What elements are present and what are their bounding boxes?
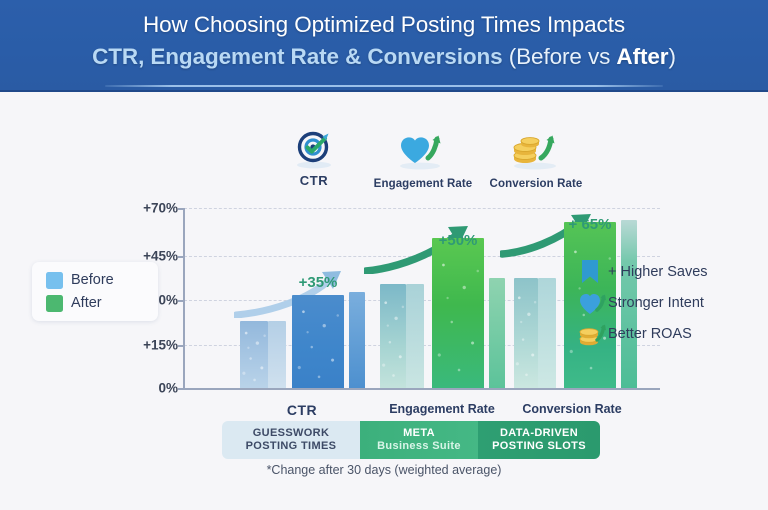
- coins-growth-icon: [474, 130, 598, 174]
- page-title-line2: CTR, Engagement Rate & Conversions (Befo…: [0, 41, 768, 72]
- bar-conversion-before: [514, 278, 538, 388]
- bar-engagement-after: [432, 238, 484, 388]
- bar-ctr-before: [240, 321, 268, 388]
- metric-icon-ctr: CTR: [258, 128, 370, 190]
- header-title-wrap: How Choosing Optimized Posting Times Imp…: [0, 9, 768, 72]
- coins-icon: [578, 320, 608, 348]
- xcat-label-conversion: Conversion Rate: [522, 402, 621, 416]
- pill-guesswork: GUESSWORK POSTING TIMES: [222, 421, 360, 459]
- heart-growth-icon: [368, 130, 478, 174]
- xcat-label-engagement: Engagement Rate: [389, 402, 495, 416]
- bar-engagement-trend: [489, 278, 505, 388]
- metric-icon-label-engagement: Engagement Rate: [374, 178, 473, 190]
- pill-meta-business-suite: META Business Suite: [360, 421, 478, 459]
- metric-icon-label-ctr: CTR: [300, 173, 329, 188]
- bar-ctr-before-highlight: [268, 321, 286, 388]
- bar-label-engagement: +50%: [439, 232, 478, 249]
- header-banner: How Choosing Optimized Posting Times Imp…: [0, 0, 768, 92]
- pill-data-driven: DATA-DRIVEN POSTING SLOTS: [478, 421, 600, 459]
- footnote-text: *Change after 30 days (weighted average): [0, 463, 768, 477]
- target-icon: [258, 128, 370, 172]
- bar-engagement-before-highlight: [406, 284, 424, 388]
- legend-swatch-before: [46, 272, 63, 289]
- page-title-metrics: CTR, Engagement Rate & Conversions: [92, 44, 502, 69]
- bar-ctr-after: [292, 295, 344, 388]
- pill-guesswork-line2: POSTING TIMES: [246, 440, 337, 454]
- bookmark-icon: [578, 258, 608, 286]
- metric-icon-engagement: Engagement Rate: [368, 130, 478, 192]
- x-axis: [183, 388, 660, 390]
- bar-conversion-before-highlight: [538, 278, 556, 388]
- legend-swatch-after: [46, 295, 63, 312]
- benefit-label-higher-saves: + Higher Saves: [608, 258, 708, 286]
- benefit-label-better-roas: Better ROAS: [608, 320, 692, 348]
- pill-data-driven-line1: DATA-DRIVEN: [500, 427, 578, 441]
- pill-meta-line2: Business Suite: [377, 440, 461, 454]
- ytick-label-0: 0%: [108, 381, 178, 396]
- bar-engagement-before: [380, 284, 406, 388]
- benefit-label-stronger-intent: Stronger Intent: [608, 289, 704, 317]
- metric-icon-label-conversion: Conversion Rate: [490, 178, 583, 190]
- bar-label-conversion: + 65%: [569, 216, 612, 233]
- page-title-paren-close: ): [668, 44, 675, 69]
- journey-pill-bar: GUESSWORK POSTING TIMES META Business Su…: [222, 421, 600, 459]
- metric-icon-conversion: Conversion Rate: [474, 130, 598, 192]
- heart-icon: [578, 289, 608, 317]
- pill-guesswork-line1: GUESSWORK: [253, 427, 330, 441]
- pill-data-driven-line2: POSTING SLOTS: [492, 440, 586, 454]
- before-after-legend: Before After: [32, 262, 158, 321]
- benefit-item-better-roas: Better ROAS: [578, 320, 768, 350]
- ytick-label-70: +70%: [108, 201, 178, 216]
- page-title-line1: How Choosing Optimized Posting Times Imp…: [0, 9, 768, 40]
- metric-icon-row: CTR Engagement Rate: [258, 128, 598, 196]
- page-title-paren-open: (Before vs: [503, 44, 617, 69]
- benefit-item-higher-saves: + Higher Saves: [578, 258, 768, 288]
- ytick-mark-0: [178, 388, 184, 390]
- legend-label-after: After: [71, 292, 102, 314]
- benefit-item-stronger-intent: Stronger Intent: [578, 289, 768, 319]
- ytick-label-15: +15%: [108, 338, 178, 353]
- title-underline-rule: [105, 85, 663, 87]
- bar-label-ctr: +35%: [299, 274, 338, 291]
- bar-ctr-trend: [349, 292, 365, 388]
- legend-label-before: Before: [71, 269, 114, 291]
- page-title-after: After: [616, 44, 668, 69]
- xcat-label-ctr: CTR: [287, 402, 317, 418]
- pill-meta-line1: META: [403, 427, 435, 441]
